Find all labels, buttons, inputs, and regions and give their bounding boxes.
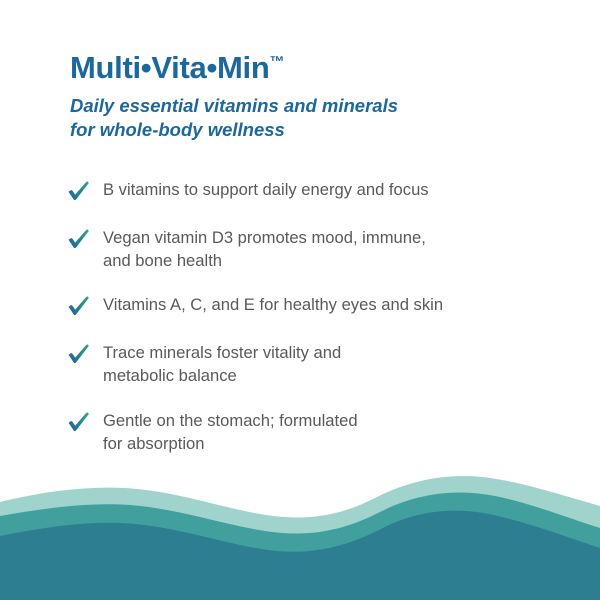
list-item: Vitamins A, C, and E for healthy eyes an…: [66, 293, 576, 320]
wave-decoration: [0, 470, 600, 600]
check-icon: [66, 179, 92, 205]
product-subtitle-line-2: for whole-body wellness: [70, 118, 470, 143]
list-item: Gentle on the stomach; formulated for ab…: [66, 409, 576, 455]
product-subtitle-line-1: Daily essential vitamins and minerals: [70, 94, 470, 119]
header-block: Multi•Vita•Min™ Daily essential vitamins…: [70, 50, 570, 143]
product-subtitle: Daily essential vitamins and minerals fo…: [70, 94, 470, 143]
benefit-line: Vegan vitamin D3 promotes mood, immune,: [103, 227, 426, 250]
benefit-text: Trace minerals foster vitality and metab…: [103, 341, 341, 387]
check-icon: [66, 342, 92, 368]
benefit-line: B vitamins to support daily energy and f…: [103, 179, 429, 202]
benefit-text: Gentle on the stomach; formulated for ab…: [103, 409, 358, 455]
check-icon: [66, 410, 92, 436]
product-title-text: Multi•Vita•Min: [70, 50, 269, 85]
list-item: B vitamins to support daily energy and f…: [66, 178, 576, 205]
product-benefits-card: Multi•Vita•Min™ Daily essential vitamins…: [0, 0, 600, 600]
check-icon: [66, 294, 92, 320]
benefit-text: Vitamins A, C, and E for healthy eyes an…: [103, 293, 443, 317]
check-icon: [66, 227, 92, 253]
benefit-line: and bone health: [103, 250, 426, 273]
benefit-line: for absorption: [103, 433, 358, 456]
wave-light-layer: [0, 476, 600, 600]
benefit-line: Vitamins A, C, and E for healthy eyes an…: [103, 294, 443, 317]
benefit-line: Trace minerals foster vitality and: [103, 342, 341, 365]
list-item: Trace minerals foster vitality and metab…: [66, 341, 576, 387]
benefit-line: Gentle on the stomach; formulated: [103, 410, 358, 433]
wave-medium-layer: [0, 493, 600, 600]
page-title: Multi•Vita•Min™: [70, 50, 570, 87]
benefit-text: B vitamins to support daily energy and f…: [103, 178, 429, 202]
benefit-line: metabolic balance: [103, 365, 341, 388]
benefits-list: B vitamins to support daily energy and f…: [66, 178, 576, 455]
benefit-text: Vegan vitamin D3 promotes mood, immune, …: [103, 226, 426, 272]
list-item: Vegan vitamin D3 promotes mood, immune, …: [66, 226, 576, 272]
wave-dark-layer: [0, 511, 600, 600]
trademark-symbol: ™: [269, 54, 284, 71]
